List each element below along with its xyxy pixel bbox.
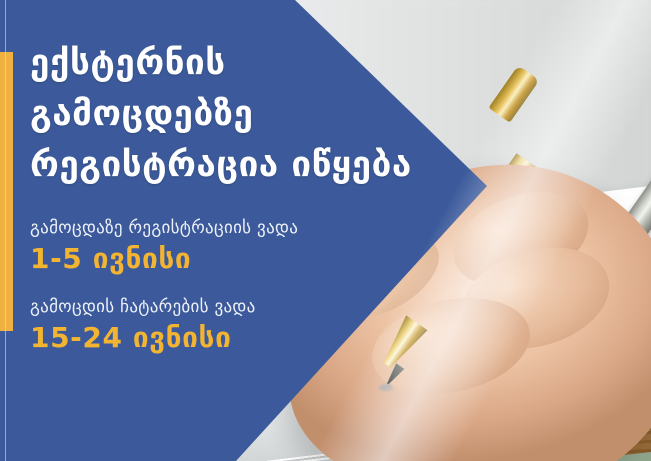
registration-period-date: 1-5 ივნისი bbox=[30, 242, 460, 276]
registration-period-block: გამოცდაზე რეგისტრაციის ვადა 1-5 ივნისი bbox=[30, 217, 460, 276]
exam-registration-banner: ექსტერნის გამოცდებზე რეგისტრაცია იწყება … bbox=[0, 0, 651, 461]
exam-period-label: გამოცდის ჩატარების ვადა bbox=[30, 296, 460, 318]
headline-line-3: რეგისტრაცია იწყება bbox=[30, 140, 460, 191]
exam-period-date: 15-24 ივნისი bbox=[30, 321, 460, 355]
banner-content: ექსტერნის გამოცდებზე რეგისტრაცია იწყება … bbox=[30, 38, 460, 355]
headline-line-2: გამოცდებზე bbox=[30, 89, 460, 140]
yellow-accent-bar bbox=[0, 52, 13, 331]
vertical-hairline bbox=[5, 0, 6, 461]
ink-mark bbox=[379, 384, 393, 391]
headline-line-1: ექსტერნის bbox=[30, 38, 460, 89]
exam-period-block: გამოცდის ჩატარების ვადა 15-24 ივნისი bbox=[30, 296, 460, 355]
registration-period-label: გამოცდაზე რეგისტრაციის ვადა bbox=[30, 217, 460, 239]
headline: ექსტერნის გამოცდებზე რეგისტრაცია იწყება bbox=[30, 38, 460, 191]
